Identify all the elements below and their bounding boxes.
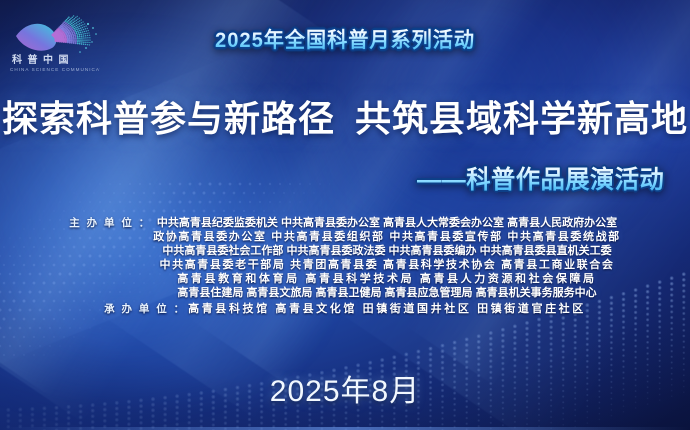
hosts-line: 高青县科技馆 高青县文化馆 田镇街道国井社区 田镇街道官庄社区: [188, 302, 586, 316]
hosts-list: 高青县科技馆 高青县文化馆 田镇街道国井社区 田镇街道官庄社区: [188, 302, 586, 316]
hosts-label: 承办单位：: [104, 302, 188, 316]
credits-block: 主办单位： 中共高青县纪委监委机关 中共高青县委办公室 高青县人大常委会办公室 …: [0, 216, 690, 316]
organizers-line: 政协高青县委办公室 中共高青县委组织部 中共高青县委宣传部 中共高青县委统战部: [153, 230, 621, 244]
organizers-line: 中共高青县纪委监委机关 中共高青县委办公室 高青县人大常委会办公室 高青县人民政…: [153, 216, 621, 230]
organizers-list: 中共高青县纪委监委机关 中共高青县委办公室 高青县人大常委会办公室 高青县人民政…: [153, 216, 621, 300]
organizers-line: 中共高青县委老干部局 共青团高青县委 高青县科学技术协会 高青县工商业联合会: [153, 258, 621, 272]
headline-part-left: 探索科普参与新路径: [2, 98, 335, 139]
organizers-line: 高青县住建局 高青县文旅局 高青县卫健局 高青县应急管理局 高青县机关事务服务中…: [153, 286, 621, 300]
svg-text:CHINA SCIENCE COMMUNICATION: CHINA SCIENCE COMMUNICATION: [10, 67, 100, 72]
event-series-kicker: 2025年全国科普月系列活动: [14, 24, 676, 54]
poster-canvas: 科普中国 CHINA SCIENCE COMMUNICATION 2025年全国…: [0, 0, 690, 430]
organizers-row: 主办单位： 中共高青县纪委监委机关 中共高青县委办公室 高青县人大常委会办公室 …: [14, 216, 676, 300]
organizers-line: 高青县教育和体育局 高青县科学技术局 高青县人力资源和社会保障局: [153, 272, 621, 286]
svg-text:科普中国: 科普中国: [12, 53, 74, 66]
headline-part-right: 共筑县域科学新高地: [355, 98, 688, 139]
organizers-line: 中共高青县委社会工作部 中共高青县委政法委 中共高青县委编办 中共高青县委县直机…: [153, 244, 621, 258]
hosts-row: 承办单位： 高青县科技馆 高青县文化馆 田镇街道国井社区 田镇街道官庄社区: [14, 302, 676, 316]
event-subtitle: ——科普作品展演活动: [417, 160, 664, 196]
event-date: 2025年8月: [0, 366, 690, 410]
organizers-label: 主办单位：: [69, 216, 153, 230]
page-title: 探索科普参与新路径共筑县域科学新高地: [0, 90, 690, 142]
